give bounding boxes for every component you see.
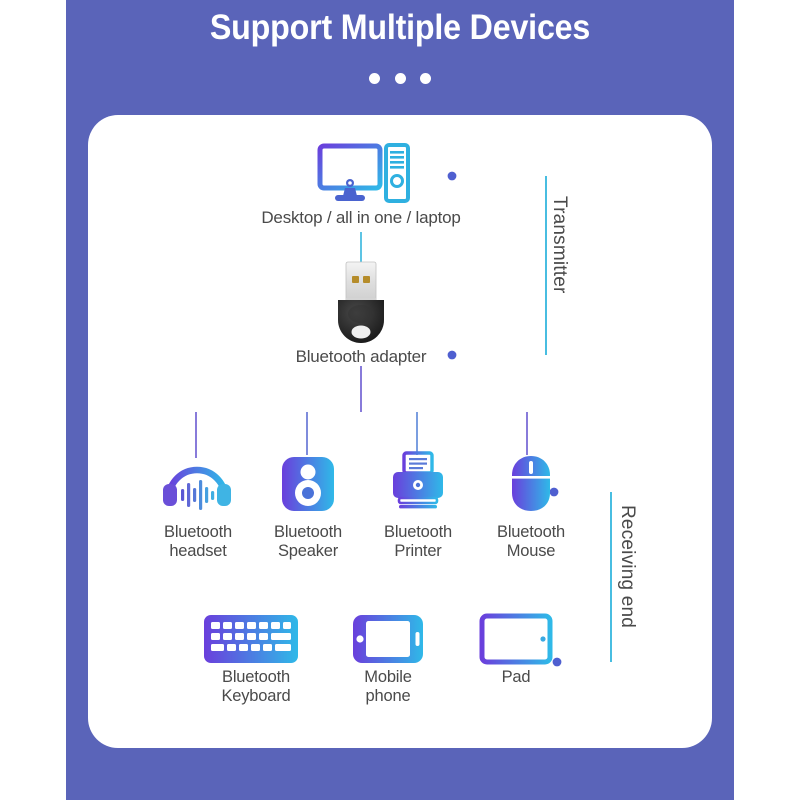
keyboard-icon <box>203 614 299 664</box>
device-label: Bluetooth Printer <box>353 523 483 561</box>
device-label: Bluetooth Mouse <box>466 523 596 561</box>
receiving-end-label: Receiving end <box>616 505 638 628</box>
tablet-pad-icon <box>480 614 552 664</box>
printer-icon <box>390 453 446 513</box>
mouse-icon <box>510 455 552 513</box>
speaker-icon <box>280 455 336 513</box>
desktop-computer-icon <box>318 143 410 205</box>
infographic-canvas: Support Multiple Devices <box>0 0 800 800</box>
device-label: Bluetooth Keyboard <box>191 668 321 706</box>
mobile-phone-icon <box>352 614 424 664</box>
usb-bluetooth-dongle-icon <box>330 262 392 346</box>
transmitter-label: Transmitter <box>548 196 570 294</box>
adapter-label: Bluetooth adapter <box>261 347 461 367</box>
headset-icon <box>160 458 234 510</box>
device-label: Pad <box>451 668 581 687</box>
device-label: Mobile phone <box>323 668 453 706</box>
desktop-label: Desktop / all in one / laptop <box>181 208 541 228</box>
